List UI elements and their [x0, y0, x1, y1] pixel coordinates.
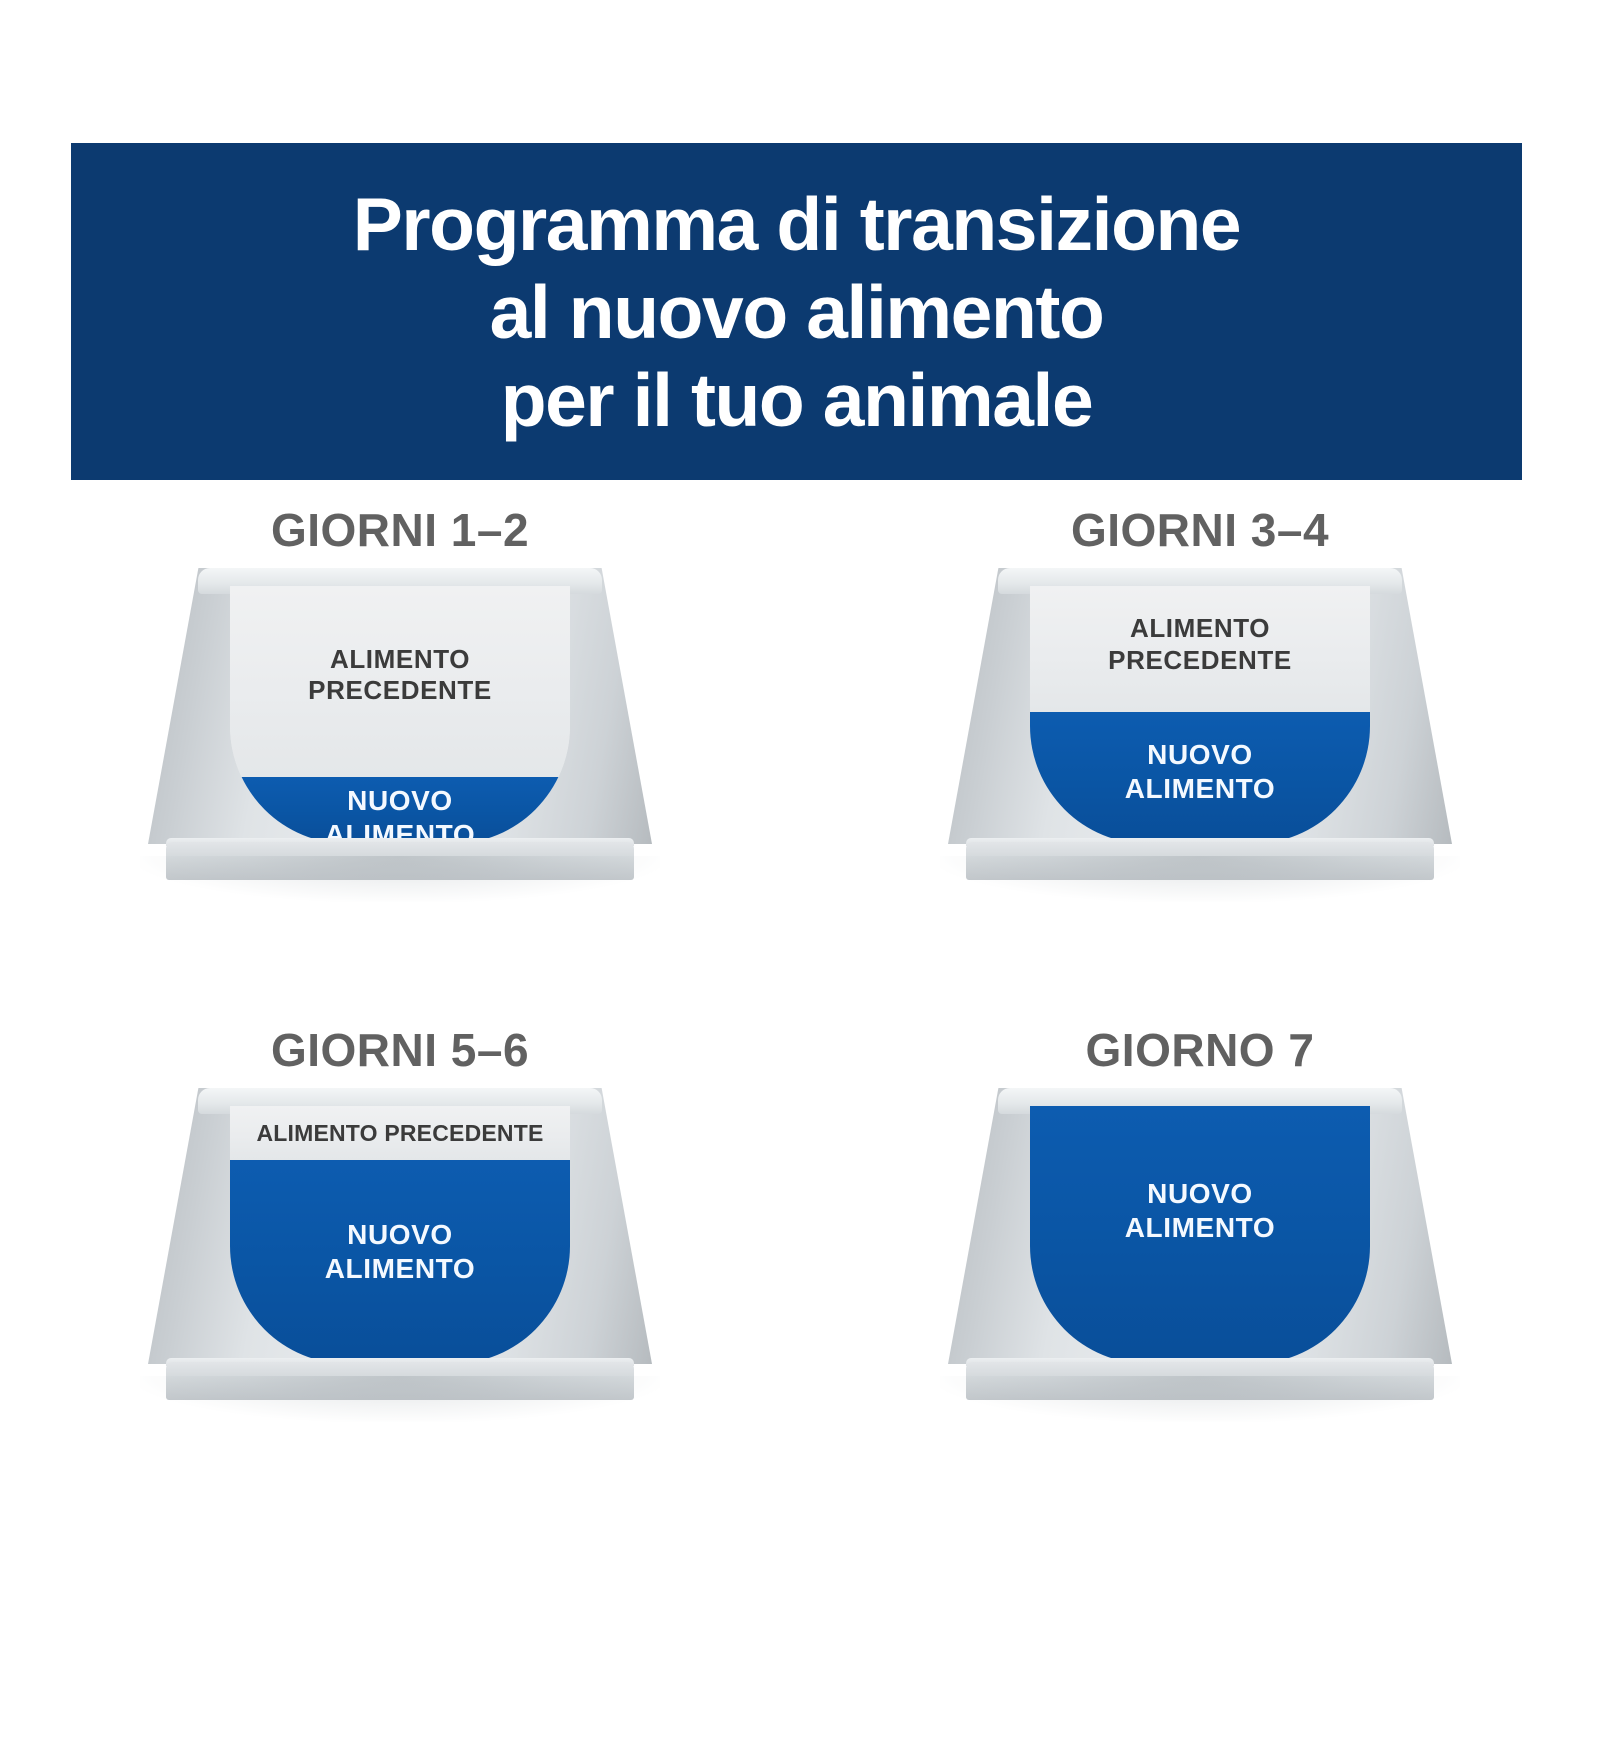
previous-food-label-3: ALIMENTO PRECEDENTE: [250, 1119, 549, 1147]
new-food-label-line-2: ALIMENTO: [325, 1253, 476, 1284]
new-food-label-line-1: NUOVO: [1147, 739, 1253, 770]
transition-step-card-1: GIORNI 1–2 ALIMENTO PRECEDENTE NUOVO ALI…: [0, 480, 800, 1000]
previous-food-label-1: ALIMENTO PRECEDENTE: [302, 644, 498, 707]
new-food-label-line-1: NUOVO: [347, 1219, 453, 1250]
new-food-label-line-2: ALIMENTO: [1125, 1212, 1276, 1243]
header-banner: Programma di transizione al nuovo alimen…: [71, 143, 1522, 480]
bowl-base-3: [166, 1362, 634, 1400]
food-bowl-4: NUOVO ALIMENTO: [940, 1088, 1460, 1418]
new-food-label-line-1: NUOVO: [347, 785, 453, 816]
step-heading-3: GIORNI 5–6: [0, 1023, 800, 1077]
previous-food-label-line-1: ALIMENTO: [330, 644, 470, 674]
new-food-label-line-2: ALIMENTO: [1125, 773, 1276, 804]
bowl-base-4: [966, 1362, 1434, 1400]
previous-food-label-line-2: PRECEDENTE: [1108, 645, 1292, 675]
banner-title-line-1: Programma di transizione: [353, 180, 1240, 268]
transition-step-card-3: GIORNI 5–6 ALIMENTO PRECEDENTE NUOVO ALI…: [0, 1000, 800, 1520]
previous-food-portion-3: ALIMENTO PRECEDENTE: [230, 1106, 570, 1160]
bowl-base-2: [966, 842, 1434, 880]
new-food-label-line-1: NUOVO: [1147, 1178, 1253, 1209]
step-heading-1: GIORNI 1–2: [0, 503, 800, 557]
previous-food-portion-1: ALIMENTO PRECEDENTE: [230, 586, 570, 777]
previous-food-label-2: ALIMENTO PRECEDENTE: [1102, 613, 1298, 676]
step-heading-2: GIORNI 3–4: [800, 503, 1600, 557]
new-food-label-1: NUOVO ALIMENTO: [319, 784, 482, 844]
transition-steps-grid: GIORNI 1–2 ALIMENTO PRECEDENTE NUOVO ALI…: [0, 480, 1600, 1520]
food-bowl-3: ALIMENTO PRECEDENTE NUOVO ALIMENTO: [140, 1088, 660, 1418]
new-food-portion-2: NUOVO ALIMENTO: [1030, 712, 1370, 844]
new-food-portion-1: NUOVO ALIMENTO: [230, 777, 570, 844]
new-food-label-3: NUOVO ALIMENTO: [319, 1218, 482, 1286]
bowl-contents-3: ALIMENTO PRECEDENTE NUOVO ALIMENTO: [230, 1106, 570, 1364]
previous-food-label-line-1: ALIMENTO: [1130, 613, 1270, 643]
new-food-label-4: NUOVO ALIMENTO: [1119, 1177, 1282, 1245]
previous-food-portion-2: ALIMENTO PRECEDENTE: [1030, 586, 1370, 712]
bowl-contents-2: ALIMENTO PRECEDENTE NUOVO ALIMENTO: [1030, 586, 1370, 844]
banner-title-line-3: per il tuo animale: [501, 356, 1093, 444]
new-food-label-2: NUOVO ALIMENTO: [1119, 738, 1282, 806]
bowl-base-1: [166, 842, 634, 880]
previous-food-label-line-2: PRECEDENTE: [308, 675, 492, 705]
food-bowl-1: ALIMENTO PRECEDENTE NUOVO ALIMENTO: [140, 568, 660, 898]
bowl-contents-1: ALIMENTO PRECEDENTE NUOVO ALIMENTO: [230, 586, 570, 844]
transition-step-card-2: GIORNI 3–4 ALIMENTO PRECEDENTE NUOVO ALI…: [800, 480, 1600, 1000]
food-bowl-2: ALIMENTO PRECEDENTE NUOVO ALIMENTO: [940, 568, 1460, 898]
bowl-contents-4: NUOVO ALIMENTO: [1030, 1106, 1370, 1364]
banner-title-line-2: al nuovo alimento: [490, 268, 1104, 356]
transition-step-card-4: GIORNO 7 NUOVO ALIMENTO: [800, 1000, 1600, 1520]
new-food-portion-3: NUOVO ALIMENTO: [230, 1160, 570, 1364]
new-food-portion-4: NUOVO ALIMENTO: [1030, 1106, 1370, 1364]
step-heading-4: GIORNO 7: [800, 1023, 1600, 1077]
